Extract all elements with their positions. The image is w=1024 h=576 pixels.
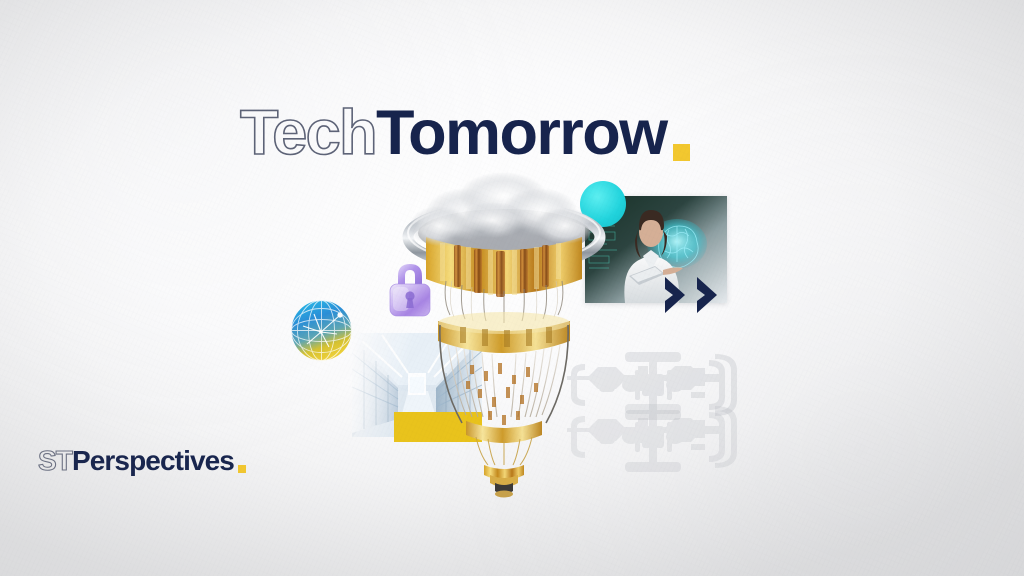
double-chevron-right-icon [663, 275, 729, 315]
logo-word-solid: Perspectives [72, 447, 234, 475]
vapor-cloud-icon [395, 168, 610, 258]
thumbnail-canvas: TechTomorrow STPerspectives [0, 0, 1024, 576]
title-period-square [673, 144, 690, 161]
brand-logo[interactable]: STPerspectives [38, 447, 246, 475]
title-word-outline: Tech [240, 102, 376, 165]
title-word-solid: Tomorrow [376, 102, 667, 165]
logo-word-outline: ST [38, 447, 72, 475]
page-title: TechTomorrow [240, 102, 690, 165]
logo-period-square [238, 465, 246, 473]
padlock-icon [385, 252, 435, 322]
collage-artwork [0, 0, 1024, 576]
network-globe-icon [290, 299, 353, 362]
